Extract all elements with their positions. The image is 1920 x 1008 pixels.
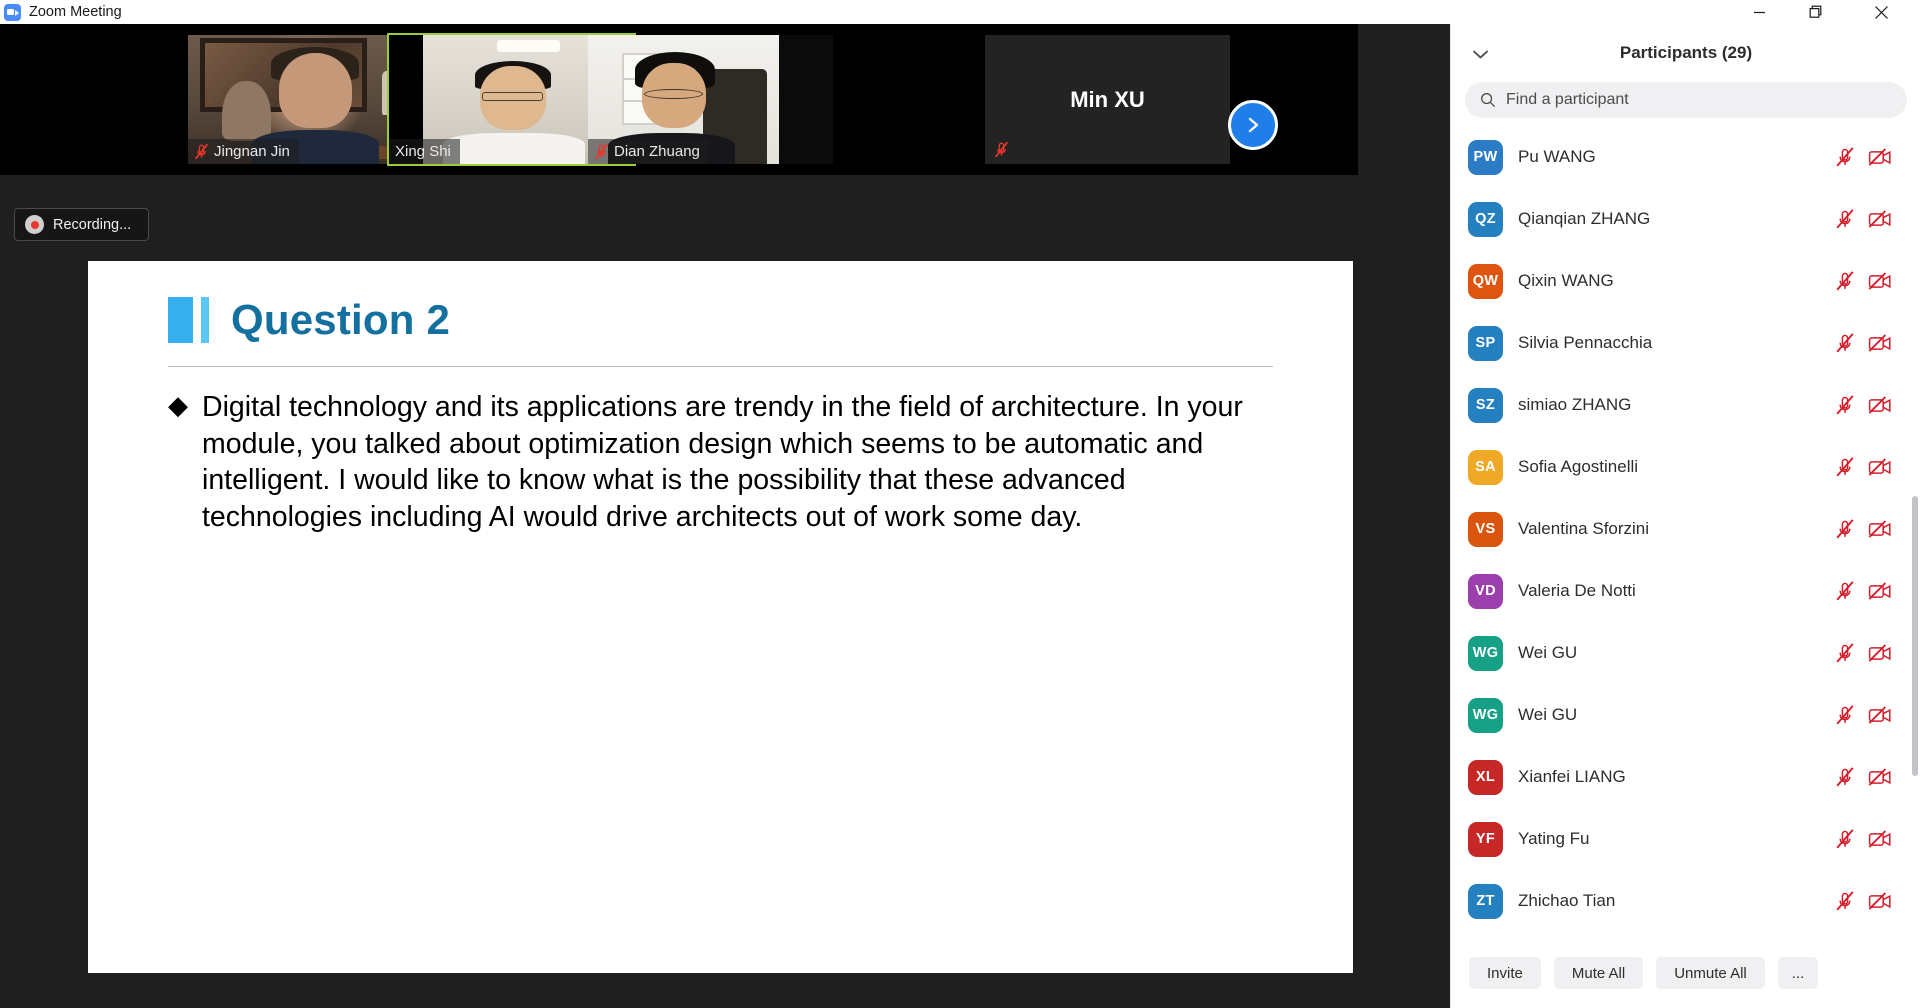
participant-row[interactable]: QWQixin WANG [1451, 250, 1920, 312]
avatar: PW [1468, 140, 1503, 175]
participant-name: Silvia Pennacchia [1518, 333, 1652, 353]
participant-row[interactable]: ZTZhichao Tian [1451, 870, 1920, 932]
video-off-icon[interactable] [1868, 767, 1892, 787]
participant-name: Zhichao Tian [1518, 891, 1615, 911]
tile-participant-name: Jingnan Jin [214, 143, 290, 160]
video-off-icon[interactable] [1868, 829, 1892, 849]
participant-name: Pu WANG [1518, 147, 1596, 167]
video-off-icon[interactable] [1868, 147, 1892, 167]
participant-row[interactable]: YFYating Fu [1451, 808, 1920, 870]
avatar: SP [1468, 326, 1503, 361]
mic-muted-icon[interactable] [1835, 891, 1855, 912]
avatar: SZ [1468, 388, 1503, 423]
slide-body-text: Digital technology and its applications … [202, 389, 1278, 535]
participant-search-box[interactable] [1465, 82, 1907, 118]
video-filmstrip: Jingnan Jin Xing Shi [0, 24, 1358, 175]
avatar: WG [1468, 698, 1503, 733]
tile-name-bar: Xing Shi [389, 139, 460, 164]
mic-muted-icon[interactable] [1835, 147, 1855, 168]
window-title: Zoom Meeting [29, 4, 122, 20]
bullet-diamond-icon: ◆ [168, 389, 188, 535]
participant-status-icons [1835, 519, 1892, 540]
avatar: WG [1468, 636, 1503, 671]
participant-status-icons [1835, 209, 1892, 230]
mic-muted-icon[interactable] [1835, 829, 1855, 850]
tile-name-bar: Jingnan Jin [188, 139, 299, 164]
participant-status-icons [1835, 705, 1892, 726]
next-page-button[interactable] [1228, 100, 1278, 150]
mic-muted-icon[interactable] [1835, 767, 1855, 788]
slide-title-group: Question 2 [168, 296, 450, 344]
slide-accent-bar-thin [201, 297, 209, 343]
video-off-icon[interactable] [1868, 209, 1892, 229]
mic-muted-icon[interactable] [1835, 395, 1855, 416]
participant-name: Qixin WANG [1518, 271, 1614, 291]
mic-muted-icon [194, 143, 209, 160]
participant-status-icons [1835, 643, 1892, 664]
video-off-icon[interactable] [1868, 705, 1892, 725]
participant-status-icons [1835, 767, 1892, 788]
participant-row[interactable]: WGWei GU [1451, 684, 1920, 746]
participants-list-scrollbar[interactable] [1912, 496, 1918, 776]
avatar: QW [1468, 264, 1503, 299]
mute-all-button[interactable]: Mute All [1554, 957, 1643, 989]
search-input[interactable] [1506, 91, 1866, 109]
recording-indicator[interactable]: Recording... [14, 208, 149, 241]
mic-muted-icon[interactable] [1835, 643, 1855, 664]
video-tile[interactable]: Dian Zhuang [588, 35, 833, 164]
slide-body: ◆ Digital technology and its application… [168, 389, 1278, 535]
participants-panel-header: Participants (29) [1451, 24, 1920, 82]
mic-muted-icon [594, 143, 609, 160]
restore-button[interactable] [1793, 0, 1839, 24]
video-tile-name-only[interactable]: Min XU [985, 35, 1230, 164]
close-button[interactable] [1858, 0, 1904, 24]
participant-status-icons [1835, 581, 1892, 602]
meeting-area: Jingnan Jin Xing Shi [0, 24, 1450, 1008]
participant-name: Wei GU [1518, 643, 1577, 663]
participant-status-icons [1835, 891, 1892, 912]
minimize-button[interactable] [1736, 0, 1782, 24]
avatar: XL [1468, 760, 1503, 795]
mic-muted-icon[interactable] [1835, 333, 1855, 354]
avatar: VS [1468, 512, 1503, 547]
mic-muted-icon[interactable] [1835, 209, 1855, 230]
tile-name-bar: Dian Zhuang [588, 139, 709, 164]
participant-name: Qianqian ZHANG [1518, 209, 1650, 229]
chevron-down-icon[interactable] [1467, 42, 1493, 66]
participants-panel-footer: Invite Mute All Unmute All ... [1451, 938, 1920, 1008]
recording-label: Recording... [53, 217, 131, 233]
participant-status-icons [1835, 147, 1892, 168]
mic-muted-icon[interactable] [1835, 271, 1855, 292]
participant-row[interactable]: SASofia Agostinelli [1451, 436, 1920, 498]
participant-row[interactable]: XLXianfei LIANG [1451, 746, 1920, 808]
participant-status-icons [1835, 457, 1892, 478]
participant-name: Yating Fu [1518, 829, 1590, 849]
avatar: QZ [1468, 202, 1503, 237]
participant-name: Valentina Sforzini [1518, 519, 1649, 539]
participant-row[interactable]: VDValeria De Notti [1451, 560, 1920, 622]
participant-row[interactable]: SPSilvia Pennacchia [1451, 312, 1920, 374]
avatar: VD [1468, 574, 1503, 609]
window-titlebar: Zoom Meeting [0, 0, 1920, 24]
participant-row[interactable]: QZQianqian ZHANG [1451, 188, 1920, 250]
zoom-video-icon [4, 4, 21, 21]
participant-name: Wei GU [1518, 705, 1577, 725]
participant-status-icons [1835, 333, 1892, 354]
video-off-icon[interactable] [1868, 643, 1892, 663]
video-off-icon[interactable] [1868, 395, 1892, 415]
participant-status-icons [1835, 395, 1892, 416]
participant-name: Valeria De Notti [1518, 581, 1636, 601]
participant-status-icons [1835, 271, 1892, 292]
slide-accent-bar-thick [168, 297, 193, 343]
search-icon [1480, 92, 1496, 108]
participant-name: Xianfei LIANG [1518, 767, 1626, 787]
participant-name: Sofia Agostinelli [1518, 457, 1638, 477]
avatar: ZT [1468, 884, 1503, 919]
participant-row[interactable]: VSValentina Sforzini [1451, 498, 1920, 560]
video-off-icon[interactable] [1868, 519, 1892, 539]
participant-row[interactable]: PWPu WANG [1451, 126, 1920, 188]
tile-participant-name: Dian Zhuang [614, 143, 700, 160]
slide-title: Question 2 [231, 296, 450, 344]
slide-divider [168, 366, 1273, 367]
mic-muted-icon[interactable] [1835, 519, 1855, 540]
tile-participant-name: Xing Shi [395, 143, 451, 160]
participant-row[interactable]: WGWei GU [1451, 622, 1920, 684]
participants-list[interactable]: PWPu WANG QZQianqian ZHANG QWQixin WANG … [1451, 126, 1920, 962]
video-off-icon[interactable] [1868, 891, 1892, 911]
participant-row[interactable]: SZsimiao ZHANG [1451, 374, 1920, 436]
mic-muted-icon [994, 141, 1009, 158]
unmute-all-button[interactable]: Unmute All [1656, 957, 1765, 989]
tile-participant-name: Min XU [985, 35, 1230, 164]
invite-button[interactable]: Invite [1469, 957, 1541, 989]
more-options-button[interactable]: ... [1778, 957, 1819, 989]
chevron-right-icon [1242, 114, 1264, 136]
mic-muted-icon[interactable] [1835, 581, 1855, 602]
participant-status-icons [1835, 829, 1892, 850]
participants-panel: Participants (29) PWPu WANG QZQianqian Z… [1450, 24, 1920, 1008]
avatar: SA [1468, 450, 1503, 485]
video-off-icon[interactable] [1868, 581, 1892, 601]
participant-name: simiao ZHANG [1518, 395, 1631, 415]
mic-muted-icon[interactable] [1835, 457, 1855, 478]
shared-screen-slide: Question 2 ◆ Digital technology and its … [88, 261, 1353, 973]
video-off-icon[interactable] [1868, 271, 1892, 291]
mic-muted-icon[interactable] [1835, 705, 1855, 726]
record-dot-icon [25, 215, 44, 234]
participants-panel-title: Participants (29) [1620, 43, 1752, 63]
video-off-icon[interactable] [1868, 457, 1892, 477]
avatar: YF [1468, 822, 1503, 857]
video-off-icon[interactable] [1868, 333, 1892, 353]
